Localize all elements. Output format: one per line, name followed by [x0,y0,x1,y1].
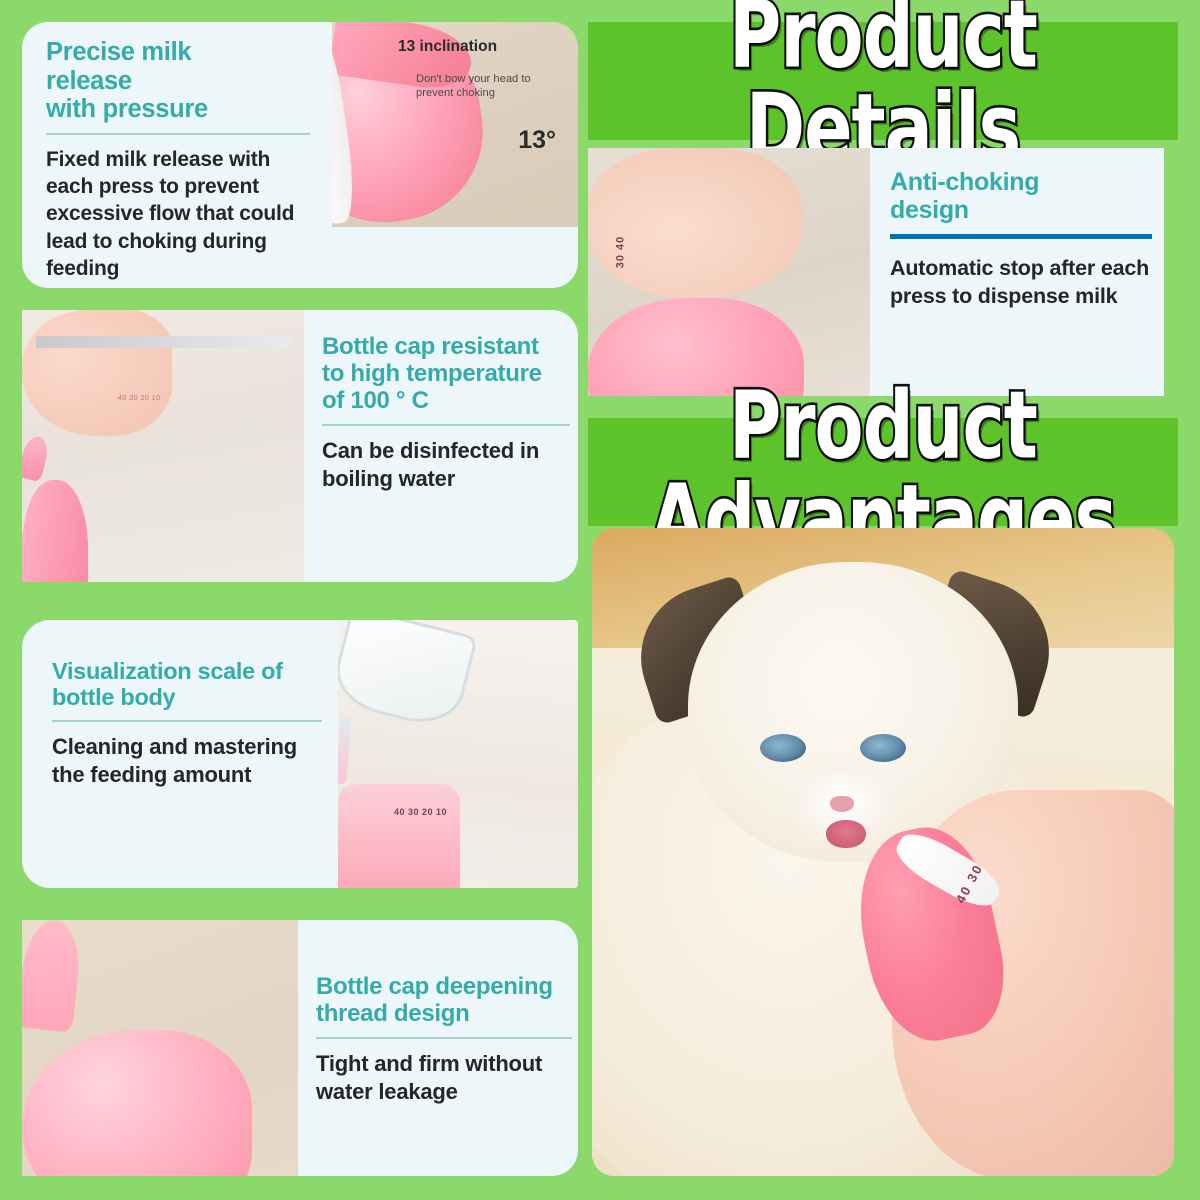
inclination-note: Don't bow your head to prevent choking [416,72,568,100]
card1-body: Fixed milk release with each press to pr… [46,146,310,282]
glass-pitcher-shape [338,620,478,732]
thumb-pressing-silicone-nipple-photo [22,920,298,1176]
card2-body: Can be disinfected in boiling water [322,437,570,494]
kitten-eye-right [860,734,906,762]
card5-body: Automatic stop after each press to dispe… [890,255,1152,311]
kitten-eye-left [760,734,806,762]
card4-divider [316,1037,572,1039]
inclination-note-line-1: Don't bow your head to [416,72,568,86]
card1-heading: Precise milk release with pressure [46,38,310,124]
kitten-being-fed-photo: 40 30 [592,528,1174,1176]
feeder-scale-ticks: 30 40 [614,236,626,269]
card3-heading-line-1: Visualization scale of [52,658,322,684]
nipple-spike-shape [22,920,84,1033]
kitten-nose [830,796,854,812]
kitten-mouth [826,820,866,848]
bottle-over-boiling-kettle-photo: 40 30 20 10 [22,310,304,582]
card5-heading-line-1: Anti-choking [890,168,1152,196]
card2-heading-line-2: to high temperature [322,361,570,388]
bottle-inclination-diagram: 13 inclination Don't bow your head to pr… [332,22,578,227]
card5-heading-line-2: design [890,196,1152,224]
banner-product-advantages: Product Advantages [588,418,1178,526]
card5-heading: Anti-choking design [890,168,1152,224]
card2-heading-line-3: of 100 ° C [322,388,570,415]
card-deepening-thread: Bottle cap deepening thread design Tight… [22,920,578,1176]
card3-divider [52,720,322,722]
card2-divider [322,424,570,426]
card5-text-block: Anti-choking design Automatic stop after… [890,168,1152,311]
angle-label: 13° [518,126,556,155]
product-infographic: Precise milk release with pressure Fixed… [0,0,1200,1200]
bottle-scale-ticks: 40 30 20 10 [118,394,160,403]
card-high-temperature: 40 30 20 10 Bottle cap resistant to high… [22,310,578,582]
bottle-scale-ticks: 40 30 20 10 [394,804,447,820]
card1-heading-line-3: with pressure [46,95,310,124]
card1-heading-line-2: release [46,67,310,96]
card5-divider [890,234,1152,239]
card4-heading: Bottle cap deepening thread design [316,974,572,1028]
bottle-tip-shape [22,434,51,482]
water-stream-shape [338,718,352,785]
hand-shape [22,310,172,436]
card3-text-block: Visualization scale of bottle body Clean… [52,658,322,790]
card3-body: Cleaning and mastering the feeding amoun… [52,733,322,790]
card2-heading-line-1: Bottle cap resistant [322,334,570,361]
silicone-bulb-shape [22,1030,252,1176]
card4-body: Tight and firm without water leakage [316,1050,572,1107]
card-precise-milk-release: Precise milk release with pressure Fixed… [22,22,578,288]
hand-shape [588,148,802,298]
card-visualization-scale: Visualization scale of bottle body Clean… [22,620,578,888]
banner-product-details: Product Details [588,22,1178,140]
card1-divider [46,133,310,135]
card1-heading-line-1: Precise milk [46,38,310,67]
pouring-water-into-bottle-photo: 40 30 20 10 [338,620,578,888]
card-anti-choking: 30 40 Anti-choking design Automatic stop… [588,148,1164,396]
card2-text-block: Bottle cap resistant to high temperature… [322,334,570,494]
card1-text-block: Precise milk release with pressure Fixed… [46,38,310,282]
card4-heading-line-2: thread design [316,1001,572,1028]
bottle-body-shape [22,480,88,582]
card2-heading: Bottle cap resistant to high temperature… [322,334,570,415]
inclination-title: 13 inclination [398,38,568,56]
hand-holding-pink-feeder-photo: 30 40 [588,148,870,396]
card4-text-block: Bottle cap deepening thread design Tight… [316,974,572,1107]
card3-heading: Visualization scale of bottle body [52,658,322,711]
card4-heading-line-1: Bottle cap deepening [316,974,572,1001]
bottle-jar-shape [338,784,460,888]
inclination-note-line-2: prevent choking [416,86,568,100]
card3-heading-line-2: bottle body [52,684,322,710]
